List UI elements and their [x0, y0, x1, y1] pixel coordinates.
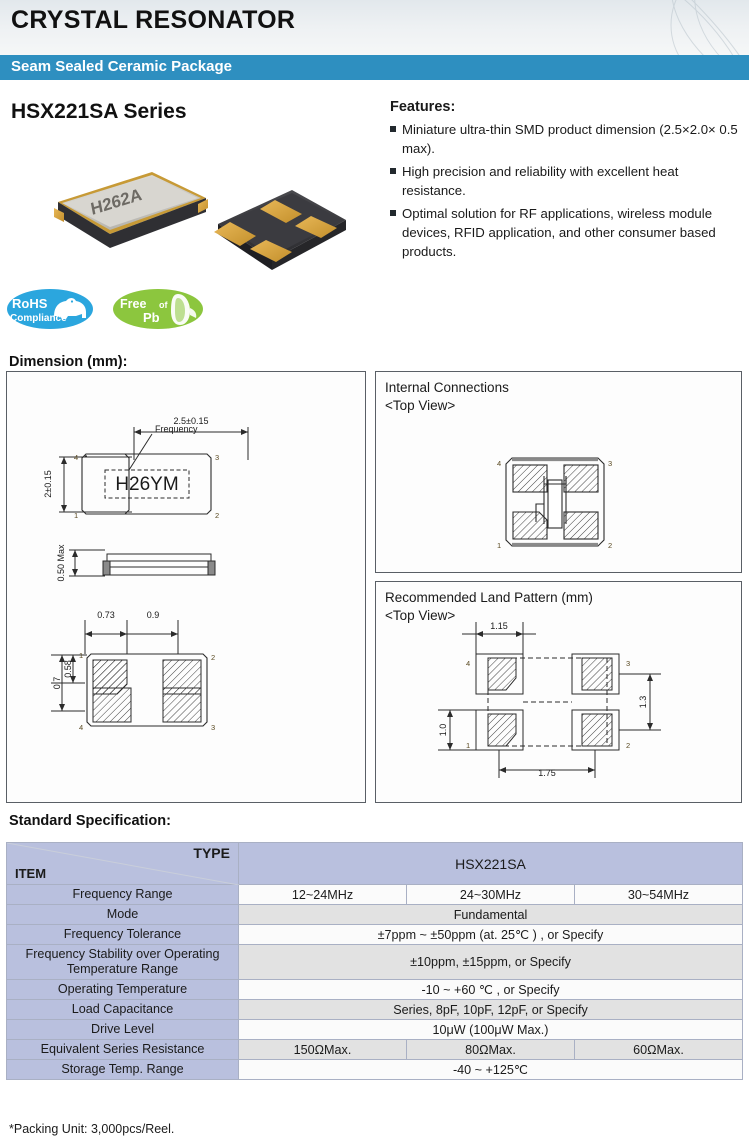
dim-bot-c: 0.58: [63, 660, 73, 678]
subtitle-band: Seam Sealed Ceramic Package: [0, 55, 749, 80]
pin-label-1: 1: [74, 511, 78, 520]
subtitle-text: Seam Sealed Ceramic Package: [11, 58, 232, 75]
spec-value-cell: 10μW (100μW Max.): [239, 1020, 743, 1040]
type-header-label: TYPE: [193, 845, 230, 861]
feature-item: Miniature ultra-thin SMD product dimensi…: [390, 120, 742, 158]
features-heading: Features:: [390, 99, 742, 115]
dim-top-height: 2±0.15: [43, 470, 53, 497]
feature-text: Miniature ultra-thin SMD product dimensi…: [402, 122, 738, 156]
dimension-section-label: Dimension (mm):: [9, 354, 127, 370]
pin-label-1: 1: [497, 541, 501, 550]
pin-label-4: 4: [74, 453, 78, 462]
internal-connections-box: Internal Connections <Top View>: [375, 371, 742, 573]
datasheet-page: CRYSTAL RESONATOR Seam Sealed Ceramic Pa…: [0, 0, 749, 1145]
pin-label-3: 3: [215, 453, 219, 462]
pin-label-1: 1: [466, 741, 470, 750]
spec-value-cell: 30~54MHz: [574, 885, 742, 905]
spec-value-cell: Fundamental: [239, 905, 743, 925]
pin-label-2: 2: [211, 653, 215, 662]
spec-value-cell: ±7ppm ~ ±50ppm (at. 25℃ ) , or Specify: [239, 925, 743, 945]
spec-item-label: Mode: [7, 905, 239, 925]
pb-line1b: of: [159, 300, 168, 310]
spec-value-cell: Series, 8pF, 10pF, 12pF, or Specify: [239, 1000, 743, 1020]
spec-item-label: Frequency Stability over Operating Tempe…: [7, 945, 239, 980]
pb-line2: Pb: [143, 310, 160, 325]
feature-text: High precision and reliability with exce…: [402, 164, 678, 198]
item-header-label: ITEM: [15, 866, 46, 881]
spec-item-label: Operating Temperature: [7, 980, 239, 1000]
table-row: Drive Level10μW (100μW Max.): [7, 1020, 743, 1040]
land-pattern-box: Recommended Land Pattern (mm) <Top View>: [375, 581, 742, 803]
pin-label-4: 4: [466, 659, 470, 668]
pin-label-3: 3: [211, 723, 215, 732]
land-dim-right: 1.3: [638, 696, 648, 709]
dim-callout-frequency: Frequency: [155, 424, 198, 434]
land-dim-top: 1.15: [490, 621, 508, 631]
dim-side-height: 0.50 Max: [56, 544, 66, 582]
table-row: Frequency Stability over Operating Tempe…: [7, 945, 743, 980]
spec-value-cell: -40 ~ +125℃: [239, 1060, 743, 1080]
dimension-drawings: 2.5±0.15 2±0.15 Frequency H26YM 0.50 Max…: [7, 372, 364, 800]
spec-value-cell: 150ΩMax.: [239, 1040, 407, 1060]
free-of-pb-logo: Free of Pb: [112, 288, 204, 330]
bullet-square-icon: [390, 168, 396, 174]
certification-logos: RoHS Compliance Free of Pb: [6, 288, 204, 330]
spec-item-label: Equivalent Series Resistance: [7, 1040, 239, 1060]
bullet-square-icon: [390, 210, 396, 216]
spec-item-label: Drive Level: [7, 1020, 239, 1040]
table-row: Equivalent Series Resistance150ΩMax.80ΩM…: [7, 1040, 743, 1060]
table-row: Frequency Tolerance±7ppm ~ ±50ppm (at. 2…: [7, 925, 743, 945]
spec-value-cell: 60ΩMax.: [574, 1040, 742, 1060]
spec-item-label: Frequency Tolerance: [7, 925, 239, 945]
spec-item-label: Storage Temp. Range: [7, 1060, 239, 1080]
dim-bot-a: 0.73: [97, 610, 115, 620]
spec-value-cell: 12~24MHz: [239, 885, 407, 905]
land-dim-bottom: 1.75: [538, 768, 556, 778]
page-title: CRYSTAL RESONATOR: [11, 6, 295, 35]
pin-label-2: 2: [215, 511, 219, 520]
packing-footnote: *Packing Unit: 3,000pcs/Reel.: [9, 1122, 174, 1136]
pin-label-3: 3: [626, 659, 630, 668]
table-row: ModeFundamental: [7, 905, 743, 925]
standard-specification-table: TYPEITEMHSX221SAFrequency Range12~24MHz2…: [6, 842, 743, 1080]
land-dim-left: 1.0: [438, 724, 448, 737]
dim-bot-d: 0.7: [52, 677, 62, 690]
pb-line1: Free: [120, 297, 146, 311]
pin-label-4: 4: [497, 459, 501, 468]
spec-value-cell: 24~30MHz: [406, 885, 574, 905]
internal-connections-drawing: 4 3 1 2: [376, 372, 740, 572]
dim-marking: H26YM: [115, 474, 178, 495]
pin-label-1: 1: [79, 651, 83, 660]
spec-item-label: Frequency Range: [7, 885, 239, 905]
features-section: Features: Miniature ultra-thin SMD produ…: [390, 99, 742, 265]
table-row: Operating Temperature-10 ~ +60 ℃ , or Sp…: [7, 980, 743, 1000]
land-pattern-drawing: 1.15 1.75 1.0 1.3 4 3 1 2: [376, 582, 740, 802]
pin-label-2: 2: [626, 741, 630, 750]
pin-label-3: 3: [608, 459, 612, 468]
series-title: HSX221SA Series: [11, 100, 187, 124]
bullet-square-icon: [390, 126, 396, 132]
device-top-view: H262A: [54, 172, 208, 248]
spec-value-cell: ±10ppm, ±15ppm, or Specify: [239, 945, 743, 980]
table-row: Load CapacitanceSeries, 8pF, 10pF, 12pF,…: [7, 1000, 743, 1020]
spec-value-cell: 80ΩMax.: [406, 1040, 574, 1060]
spec-value-cell: -10 ~ +60 ℃ , or Specify: [239, 980, 743, 1000]
device-bottom-view: [214, 190, 346, 270]
rohs-line1: RoHS: [12, 296, 48, 311]
item-type-header-cell: TYPEITEM: [7, 843, 239, 885]
rohs-compliance-logo: RoHS Compliance: [6, 288, 94, 330]
table-row: Frequency Range12~24MHz24~30MHz30~54MHz: [7, 885, 743, 905]
spec-item-label: Load Capacitance: [7, 1000, 239, 1020]
dim-bot-b: 0.9: [147, 610, 160, 620]
product-photo: H262A: [40, 160, 360, 275]
table-header-row: TYPEITEMHSX221SA: [7, 843, 743, 885]
feature-text: Optimal solution for RF applications, wi…: [402, 206, 716, 259]
rohs-line2: Compliance: [10, 313, 67, 324]
pin-label-2: 2: [608, 541, 612, 550]
type-value-cell: HSX221SA: [239, 843, 743, 885]
spec-section-label: Standard Specification:: [9, 813, 171, 829]
feature-item: Optimal solution for RF applications, wi…: [390, 204, 742, 261]
dimension-drawing-box: 2.5±0.15 2±0.15 Frequency H26YM 0.50 Max…: [6, 371, 366, 803]
pin-label-4: 4: [79, 723, 83, 732]
table-row: Storage Temp. Range-40 ~ +125℃: [7, 1060, 743, 1080]
feature-item: High precision and reliability with exce…: [390, 162, 742, 200]
